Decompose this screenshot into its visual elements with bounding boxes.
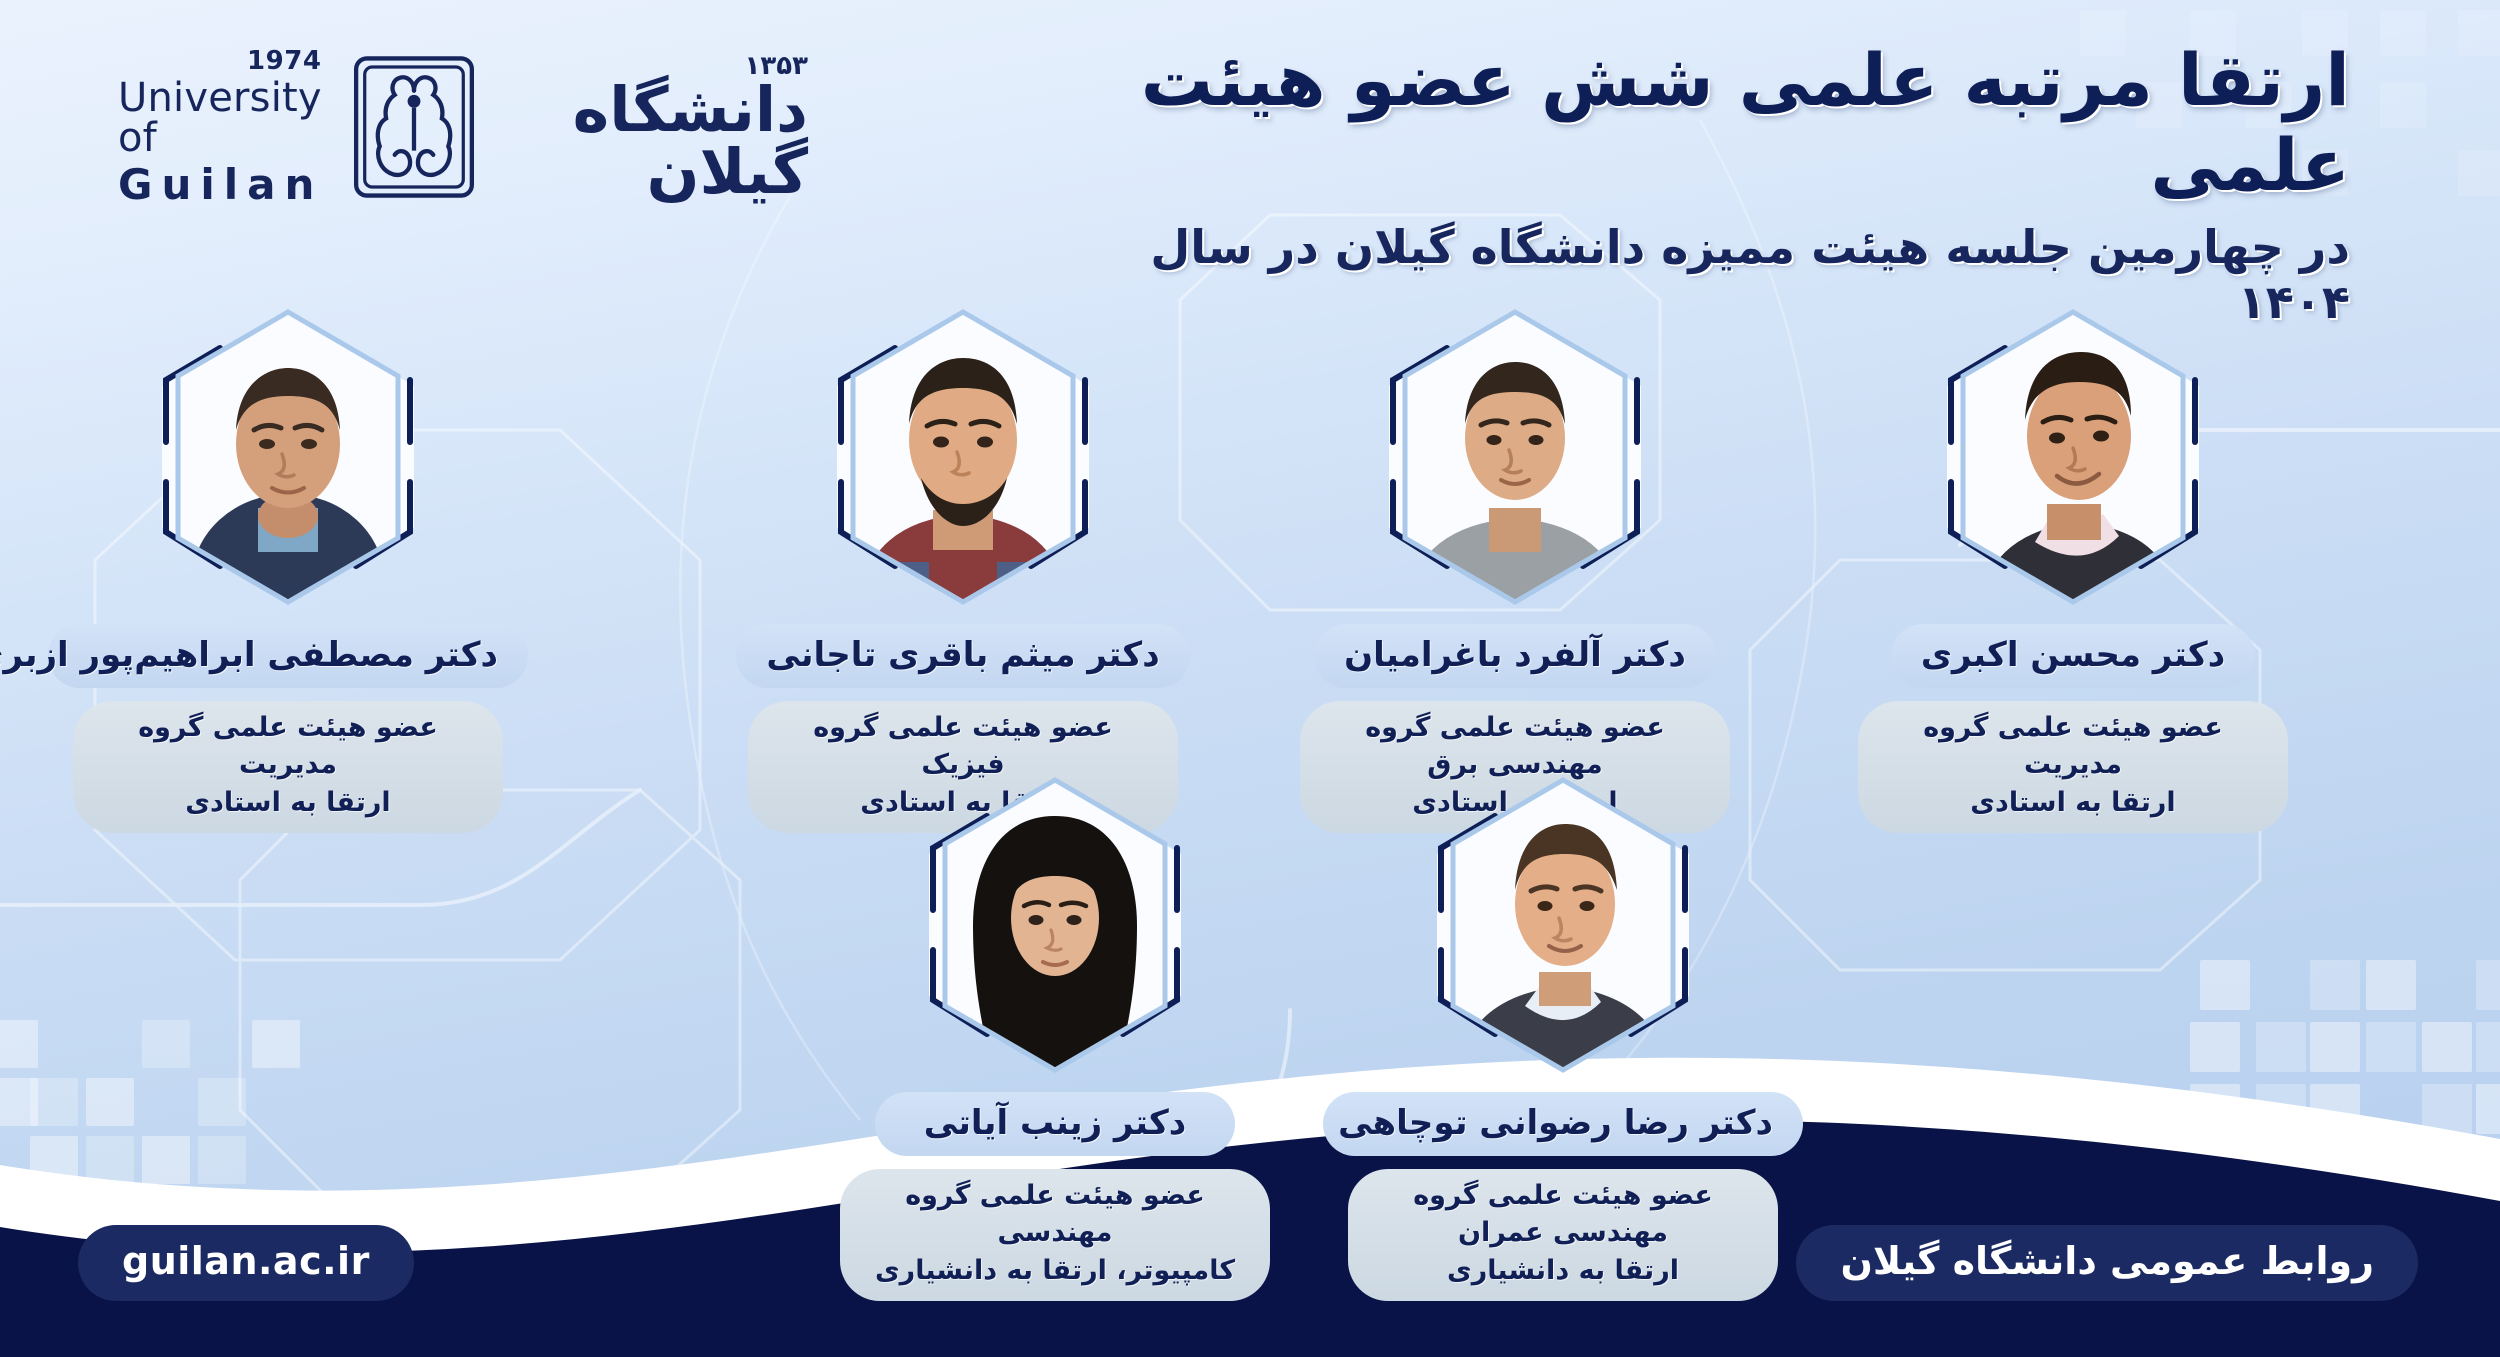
person-card[interactable]: دکتر زینب آیاتی عضو هیئت علمی گروه مهندس… [840,780,1270,1301]
person-card[interactable]: دکتر میثم باقری تاجانی عضو هیئت علمی گرو… [748,312,1178,833]
public-relations-badge[interactable]: روابط عمومی دانشگاه گیلان [1796,1225,2418,1301]
person-photo-frame [829,312,1097,602]
hexagon-accent-outline-icon [1421,772,1705,1078]
hexagon-accent-outline-icon [146,304,430,610]
people-grid: دکتر مصطفی ابراهیم‌پور ازبری عضو هیئت عل… [0,0,2500,1357]
person-photo-frame [1429,780,1697,1070]
person-name-badge: دکتر رضا رضوانی توچاهی [1319,1088,1807,1160]
person-promotion: ارتقا به دانشیاری [1374,1252,1752,1289]
person-name: دکتر زینب آیاتی [905,1101,1205,1145]
website-badge[interactable]: guilan.ac.ir [78,1225,414,1301]
person-name-badge: دکتر میثم باقری تاجانی [732,620,1193,692]
person-photo-frame [1939,312,2207,602]
person-name: دکتر آلفرد باغرامیان [1344,633,1686,677]
person-card[interactable]: دکتر رضا رضوانی توچاهی عضو هیئت علمی گرو… [1348,780,1778,1301]
hexagon-accent-outline-icon [821,304,1105,610]
person-department: عضو هیئت علمی گروه مهندسی [866,1177,1244,1252]
person-department-badge: عضو هیئت علمی گروه مدیریت ارتقا به استاد… [73,701,503,833]
public-relations-label: روابط عمومی دانشگاه گیلان [1840,1239,2374,1283]
person-name-badge: دکتر مصطفی ابراهیم‌پور ازبری [44,620,532,692]
person-photo-frame [154,312,422,602]
person-name: دکتر میثم باقری تاجانی [766,633,1159,677]
person-promotion: ارتقا به استادی [1884,784,2262,821]
person-name-badge: دکتر آلفرد باغرامیان [1310,620,1720,692]
person-card[interactable]: دکتر مصطفی ابراهیم‌پور ازبری عضو هیئت عل… [73,312,503,833]
poster-canvas: 1974 University of Guilan ۱۳۵۳ دانشگاه گ… [0,0,2500,1357]
person-name-badge: دکتر محسن اکبری [1887,620,2259,692]
person-department: عضو هیئت علمی گروه مهندسی عمران [1374,1177,1752,1252]
person-photo-frame [921,780,1189,1070]
website-url: guilan.ac.ir [122,1239,370,1283]
person-promotion: کامپیوتر، ارتقا به دانشیاری [866,1252,1244,1289]
person-department-badge: عضو هیئت علمی گروه مهندسی عمران ارتقا به… [1348,1169,1778,1301]
person-department-badge: عضو هیئت علمی گروه مهندسی کامپیوتر، ارتق… [840,1169,1270,1301]
hexagon-accent-outline-icon [1931,304,2215,610]
person-department-badge: عضو هیئت علمی گروه مدیریت ارتقا به استاد… [1858,701,2288,833]
person-name: دکتر رضا رضوانی توچاهی [1353,1101,1773,1145]
person-name-badge: دکتر زینب آیاتی [871,1088,1239,1160]
person-promotion: ارتقا به استادی [99,784,477,821]
hexagon-accent-outline-icon [913,772,1197,1078]
person-photo-frame [1381,312,1649,602]
person-card[interactable]: دکتر آلفرد باغرامیان عضو هیئت علمی گروه … [1300,312,1730,833]
person-card[interactable]: دکتر محسن اکبری عضو هیئت علمی گروه مدیری… [1858,312,2288,833]
person-department: عضو هیئت علمی گروه مدیریت [1884,709,2262,784]
person-department: عضو هیئت علمی گروه مدیریت [99,709,477,784]
hexagon-accent-outline-icon [1373,304,1657,610]
person-name: دکتر مصطفی ابراهیم‌پور ازبری [78,633,498,677]
person-name: دکتر محسن اکبری [1921,633,2225,677]
